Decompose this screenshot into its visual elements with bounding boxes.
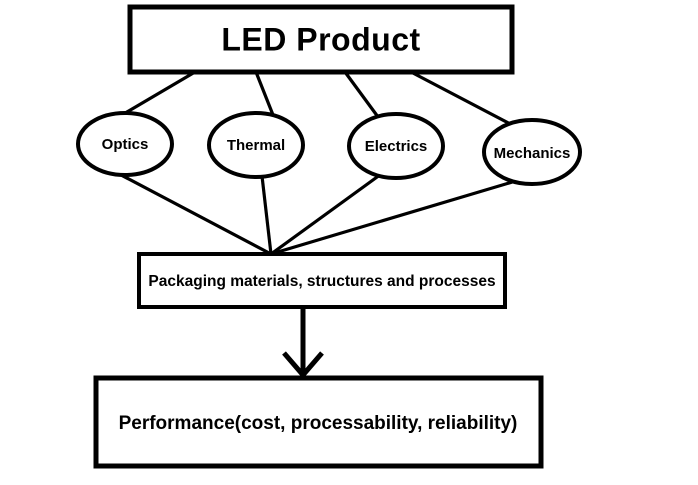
- packaging-label: Packaging materials, structures and proc…: [148, 273, 495, 290]
- aspect-node-mechanics[interactable]: Mechanics: [484, 120, 580, 184]
- connector-electrics-to-packaging: [271, 172, 384, 254]
- connector-thermal-to-packaging: [262, 176, 271, 254]
- led-product-label: LED Product: [221, 21, 420, 57]
- connector-led-to-electrics: [345, 72, 381, 121]
- optics-label: Optics: [102, 136, 149, 153]
- arrow-packaging-to-performance: [284, 307, 322, 375]
- performance-node[interactable]: Performance(cost, processability, reliab…: [96, 378, 541, 466]
- electrics-label: Electrics: [365, 138, 428, 155]
- connector-group-bottom: [104, 166, 519, 254]
- aspect-node-electrics[interactable]: Electrics: [349, 114, 443, 178]
- aspect-node-thermal[interactable]: Thermal: [209, 113, 303, 177]
- connector-mechanics-to-packaging: [271, 180, 519, 254]
- connector-led-to-mechanics: [411, 72, 518, 128]
- thermal-label: Thermal: [227, 137, 285, 154]
- diagram-canvas: LED Product Optics Thermal Electrics Mec…: [0, 0, 698, 485]
- led-product-node[interactable]: LED Product: [130, 7, 512, 72]
- connector-optics-to-packaging: [104, 166, 271, 254]
- aspect-node-optics[interactable]: Optics: [78, 113, 172, 175]
- mechanics-label: Mechanics: [494, 145, 571, 162]
- packaging-node[interactable]: Packaging materials, structures and proc…: [139, 254, 505, 307]
- led-product-flow-diagram: LED Product Optics Thermal Electrics Mec…: [0, 0, 698, 485]
- performance-label: Performance(cost, processability, reliab…: [119, 413, 518, 434]
- connector-group-top: [110, 72, 518, 128]
